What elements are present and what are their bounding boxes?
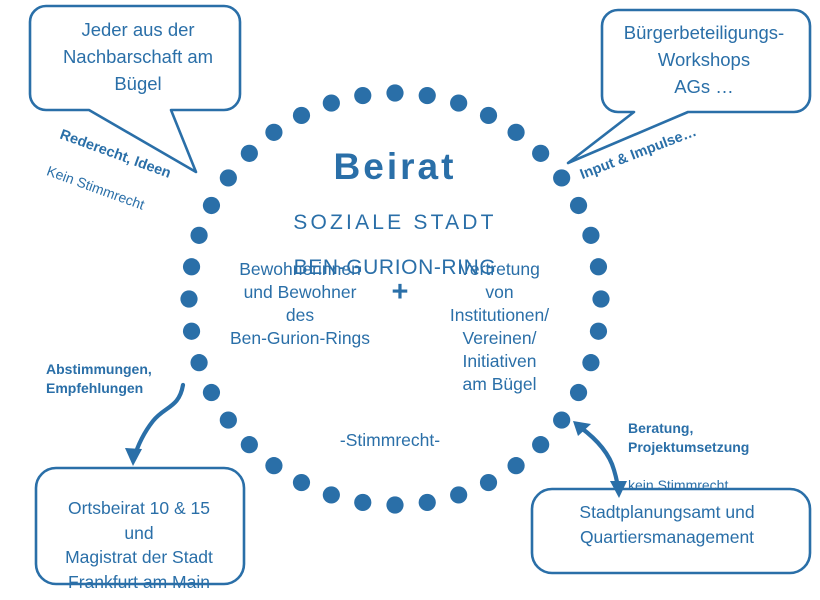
ring-dot xyxy=(354,87,371,104)
ring-dot xyxy=(183,323,200,340)
ring-dot xyxy=(480,107,497,124)
ring-dot xyxy=(450,486,467,503)
ring-dot xyxy=(450,94,467,111)
diagram-canvas: Beirat SOZIALE STADT BEN-GURION-RING Bew… xyxy=(0,0,820,600)
ring-dot xyxy=(480,474,497,491)
ring-dot xyxy=(386,84,403,101)
ring-dot xyxy=(590,323,607,340)
ring-dot xyxy=(386,496,403,513)
ring-dot xyxy=(354,494,371,511)
arrowhead-bottom-left xyxy=(125,448,142,466)
ring-dot xyxy=(220,411,237,428)
ring-dot xyxy=(241,436,258,453)
connector-label-beratung-light: kein Stimmrecht xyxy=(628,476,803,495)
plus-icon: + xyxy=(385,278,415,307)
center-right-column: Vertretung von Institutionen/ Vereinen/ … xyxy=(412,258,587,397)
bubble-top-left-label: Jeder aus der Nachbarschaft am Bügel xyxy=(38,17,238,97)
ring-dot xyxy=(532,436,549,453)
ring-dot xyxy=(553,411,570,428)
bubble-top-right-label: Bürgerbeteiligungs- Workshops AGs … xyxy=(608,20,800,100)
page-title: Beirat xyxy=(195,148,595,187)
box-bottom-left-label: Ortsbeirat 10 & 15 und Magistrat der Sta… xyxy=(44,496,234,594)
center-subtitle: SOZIALE STADT xyxy=(195,211,595,235)
ring-dot xyxy=(419,494,436,511)
ring-dot xyxy=(293,474,310,491)
arrow-stadtplanungsamt-bidirectional xyxy=(573,421,627,498)
ring-dot xyxy=(323,94,340,111)
ring-dot xyxy=(507,457,524,474)
ring-dot xyxy=(293,107,310,124)
center-left-column: Bewohnerinnen und Bewohner des Ben-Gurio… xyxy=(210,258,390,350)
ring-dot xyxy=(323,486,340,503)
ring-dot xyxy=(419,87,436,104)
center-footer-label: -Stimmrecht- xyxy=(295,430,485,451)
ring-dot xyxy=(265,457,282,474)
connector-label-beratung: Beratung, Projektumsetzung kein Stimmrec… xyxy=(628,400,803,514)
connector-label-abstimmungen: Abstimmungen, Empfehlungen xyxy=(46,360,216,398)
connector-label-beratung-bold: Beratung, Projektumsetzung xyxy=(628,419,803,457)
